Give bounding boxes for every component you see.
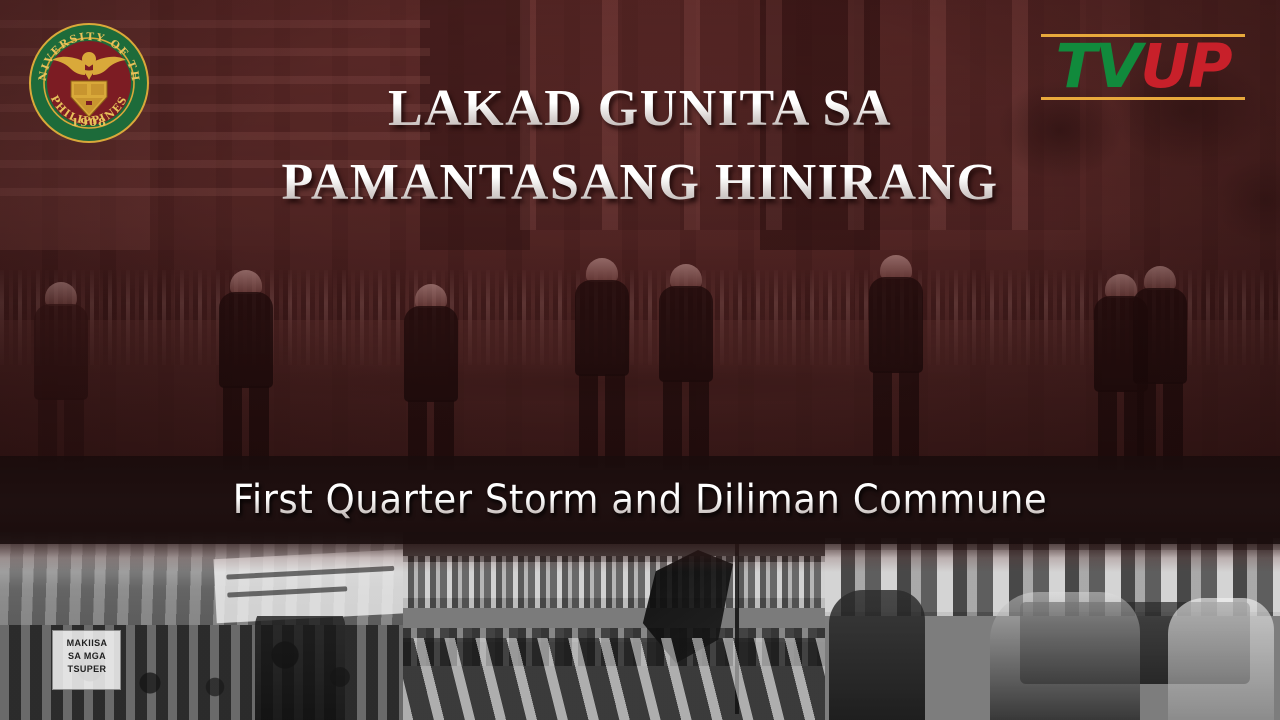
- placard-text: MAKIISA SA MGA TSUPER: [58, 637, 116, 676]
- photo-strip: MAKIISA SA MGA TSUPER: [0, 532, 1280, 720]
- protest-placard: MAKIISA SA MGA TSUPER: [52, 630, 121, 690]
- subtitle-text: First Quarter Storm and Diliman Commune: [233, 476, 1048, 524]
- foreground-figure: [255, 602, 345, 720]
- photo-rally-placards: MAKIISA SA MGA TSUPER: [0, 532, 403, 720]
- tvup-tv-text: TV: [1055, 31, 1140, 102]
- video-thumbnail: UNIVERSITY OF THE PHILIPPINES 1908 TVUP: [0, 0, 1280, 720]
- tvup-wordmark: TVUP: [1038, 32, 1248, 102]
- foreground-figure-right: [1168, 598, 1274, 720]
- photo-street-confrontation: [825, 532, 1280, 720]
- foreground-figure-left: [829, 590, 925, 720]
- photo-field-fists: [403, 532, 825, 720]
- foreground-figure-center: [990, 592, 1140, 720]
- tvup-rule-bottom: [1041, 97, 1245, 100]
- svg-text:1908: 1908: [71, 115, 107, 129]
- tvup-logo[interactable]: TVUP: [1038, 26, 1248, 108]
- subtitle-bar: First Quarter Storm and Diliman Commune: [0, 456, 1280, 544]
- tvup-up-text: UP: [1140, 31, 1230, 102]
- distant-crowd-line: [403, 556, 825, 608]
- up-seal: UNIVERSITY OF THE PHILIPPINES 1908: [28, 22, 150, 144]
- raised-fists: [403, 638, 825, 720]
